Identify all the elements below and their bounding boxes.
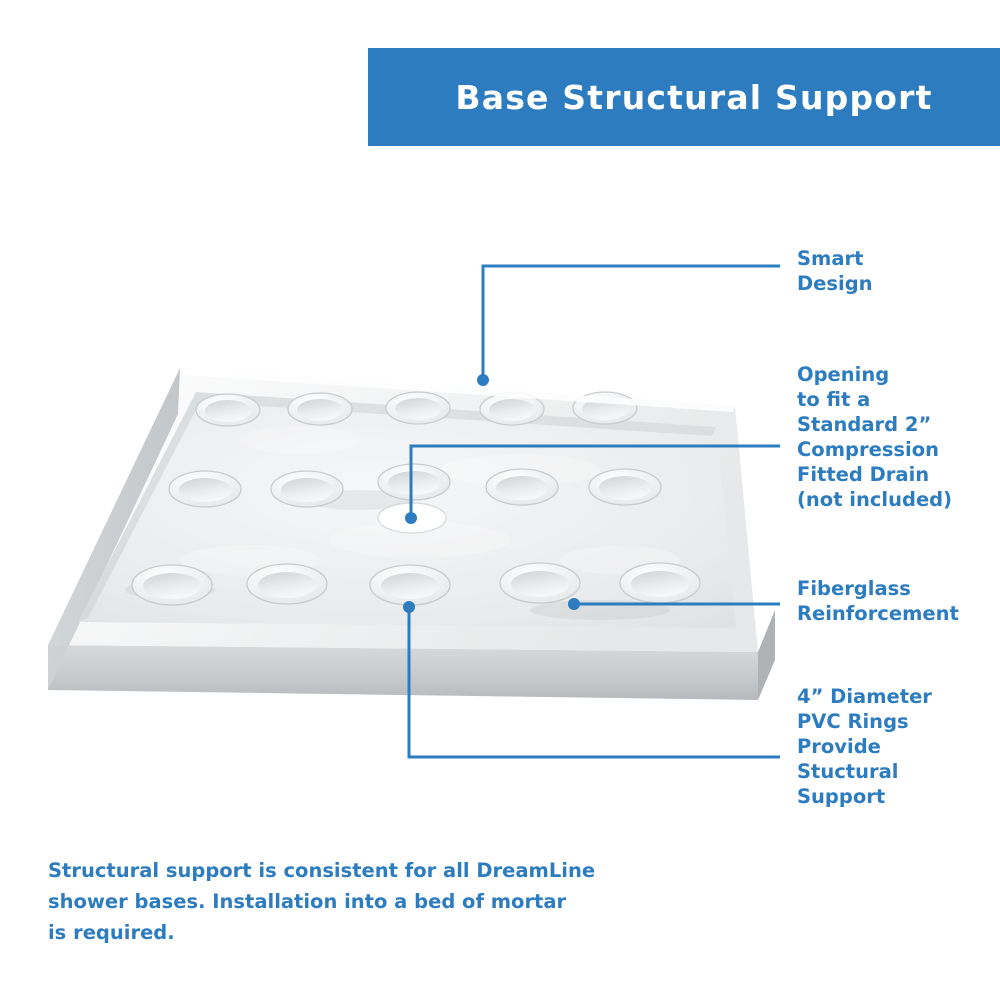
pvc-ring [196,394,260,426]
pvc-ring [386,392,450,424]
pvc-ring [288,393,352,425]
pvc-ring [486,469,558,505]
bottom-note: Structural support is consistent for all… [48,855,688,948]
leader-dot-pvc-rings [403,601,415,613]
leader-dot-smart-design [477,374,489,386]
pvc-ring [589,469,661,505]
callout-pvc-rings: 4” Diameter PVC Rings Provide Stuctural … [797,684,987,809]
pvc-ring [620,563,700,603]
leader-line-smart-design [483,266,780,380]
pvc-ring [573,392,637,424]
page-title: Base Structural Support [368,48,1000,146]
drain-opening [378,503,446,533]
pvc-ring [247,564,327,604]
callout-fiberglass-reinforcement: Fiberglass Reinforcement [797,576,997,626]
pvc-ring [271,471,343,507]
leader-line-pvc-rings [409,607,780,757]
leader-line-opening [411,446,780,518]
pvc-ring [132,565,212,605]
leader-dot-fiberglass [568,598,580,610]
callout-smart-design: Smart Design [797,246,997,296]
diagram-canvas: Base Structural Support Smart Design Ope… [0,0,1000,1000]
pvc-ring [370,565,450,605]
callout-opening-standard-drain: Opening to fit a Standard 2” Compression… [797,362,1000,512]
pvc-ring [500,563,580,603]
pvc-ring [169,471,241,507]
pvc-ring [480,393,544,425]
leader-dot-opening [405,512,417,524]
pvc-ring [378,464,450,500]
